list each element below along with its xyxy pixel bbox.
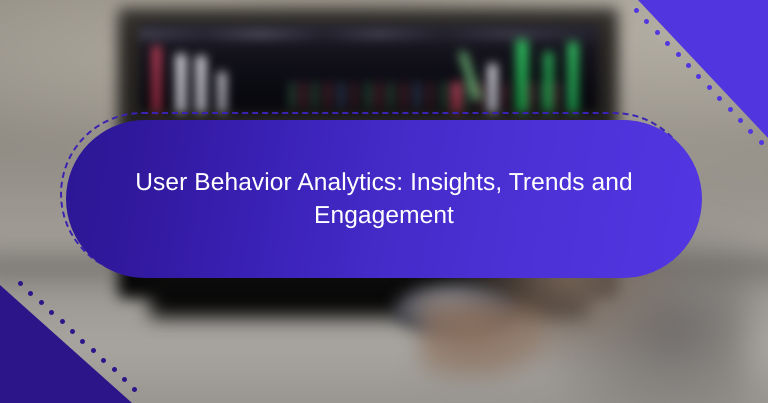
chart-bar-white-4	[488, 64, 497, 112]
chart-bar-green-3	[568, 42, 578, 112]
chart-bar-white-2	[196, 56, 206, 112]
chart-bar-green-1	[516, 40, 528, 112]
featured-image-card: User Behavior Analytics: Insights, Trend…	[0, 0, 768, 403]
title-banner: User Behavior Analytics: Insights, Trend…	[66, 120, 702, 278]
chart-toolbar	[140, 30, 598, 39]
chart-bar-white-3	[218, 72, 226, 112]
chart-bar-white-1	[176, 54, 186, 112]
chart-bar-red-1	[152, 46, 161, 112]
chart-bar-red-2	[452, 82, 461, 112]
thumb	[420, 300, 550, 380]
page-title: User Behavior Analytics: Insights, Trend…	[124, 166, 644, 232]
chart-bar-green-2	[544, 52, 553, 112]
laptop-screen-trading-chart	[140, 24, 598, 112]
